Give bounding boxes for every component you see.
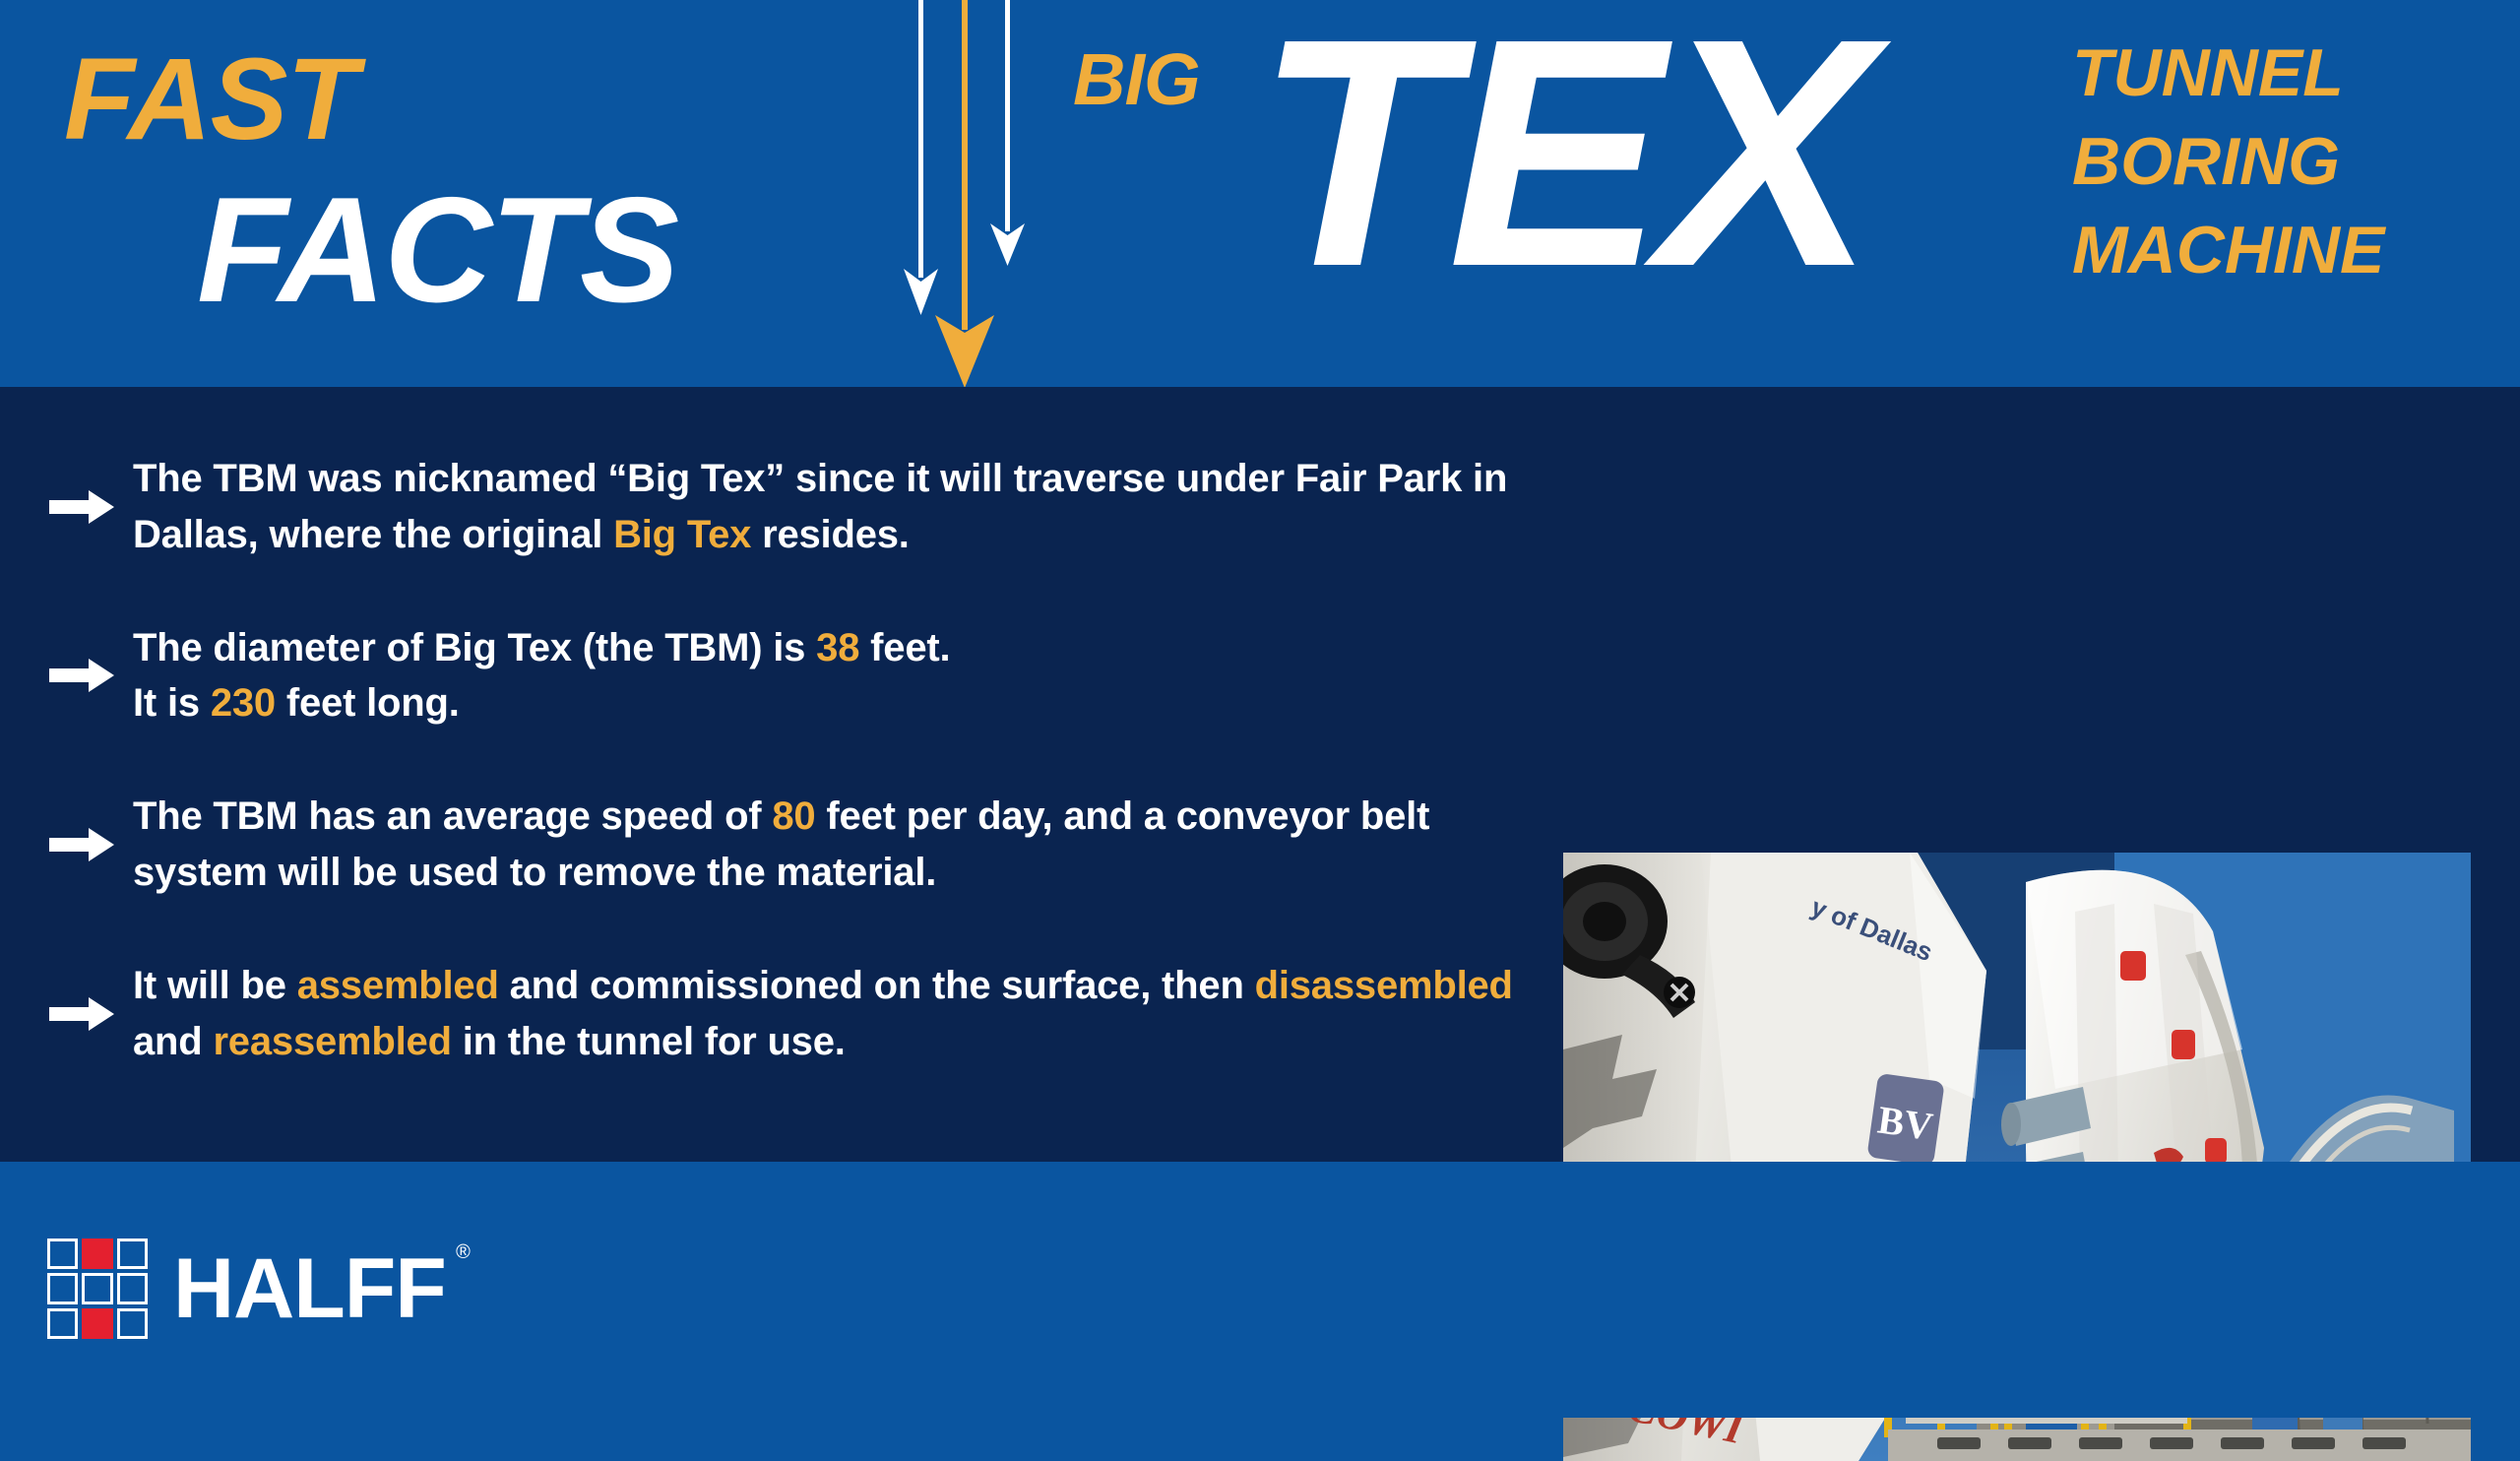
fact-plain: The TBM has an average speed of <box>133 794 772 838</box>
fact-plain: The diameter of Big Tex (the TBM) is <box>133 626 816 669</box>
halff-logo-grid-icon <box>47 1239 148 1339</box>
fact-plain: feet. <box>859 626 950 669</box>
fact-text: The TBM was nicknamed “Big Tex” since it… <box>133 451 1516 563</box>
fact-highlight: assembled <box>297 964 499 1007</box>
halff-logo-cell-2-1 <box>82 1308 112 1339</box>
header-banner: FAST FACTS BIG TEX TUNNEL BORING MACHI <box>0 0 2520 387</box>
tbm-subtitle-line-2: BORING <box>2072 118 2495 207</box>
halff-logo: HALFF® <box>47 1239 446 1339</box>
fact-text: It will be assembled and commissioned on… <box>133 958 1516 1070</box>
right-arrow-icon <box>39 822 133 867</box>
halff-logo-cell-1-2 <box>117 1273 148 1303</box>
tbm-subtitle-line-1: TUNNEL <box>2072 30 2495 118</box>
facts-panel: The TBM was nicknamed “Big Tex” since it… <box>0 387 2520 1162</box>
big-title-word: BIG <box>1073 43 1200 116</box>
facts-title-word: FACTS <box>197 175 677 325</box>
fact-item: It will be assembled and commissioned on… <box>39 958 1516 1070</box>
fact-text: The diameter of Big Tex (the TBM) is 38 … <box>133 620 1516 732</box>
halff-logo-cell-2-2 <box>117 1308 148 1339</box>
halff-logo-cell-1-0 <box>47 1273 78 1303</box>
fact-highlight: 230 <box>211 681 276 725</box>
halff-logo-text: HALFF <box>173 1241 446 1336</box>
fact-highlight: 80 <box>772 794 815 838</box>
fact-plain: in the tunnel for use. <box>452 1020 846 1063</box>
tex-title-word: TEX <box>1255 0 1869 315</box>
halff-logo-cell-0-1 <box>82 1239 112 1269</box>
fact-highlight: Big Tex <box>613 513 751 556</box>
fact-item: The diameter of Big Tex (the TBM) is 38 … <box>39 620 1516 732</box>
fact-text: The TBM has an average speed of 80 feet … <box>133 789 1516 901</box>
fact-highlight: reassembled <box>213 1020 451 1063</box>
registered-trademark-icon: ® <box>456 1242 470 1262</box>
fact-item: The TBM was nicknamed “Big Tex” since it… <box>39 451 1516 563</box>
fast-title-word: FAST <box>64 41 357 158</box>
footer-bar: HALFF® <box>0 1162 2520 1418</box>
fact-plain: resides. <box>751 513 910 556</box>
fact-item: The TBM has an average speed of 80 feet … <box>39 789 1516 901</box>
fact-plain: and <box>133 1020 213 1063</box>
halff-logo-wordmark: HALFF® <box>173 1246 446 1331</box>
down-arrow-right-white-icon <box>990 0 1025 266</box>
tbm-subtitle: TUNNEL BORING MACHINE <box>2072 30 2495 294</box>
fact-plain: It is <box>133 681 211 725</box>
halff-logo-cell-1-1 <box>82 1273 112 1303</box>
halff-logo-cell-0-0 <box>47 1239 78 1269</box>
tbm-subtitle-line-3: MACHINE <box>2072 207 2495 295</box>
down-arrow-center-orange-icon <box>935 0 994 387</box>
facts-list: The TBM was nicknamed “Big Tex” since it… <box>39 451 1516 1126</box>
fact-plain: feet long. <box>276 681 460 725</box>
fact-plain: and commissioned on the surface, then <box>499 964 1255 1007</box>
photo-label-bv: BV <box>1875 1097 1935 1148</box>
right-arrow-icon <box>39 991 133 1037</box>
down-arrows-group <box>891 0 1039 387</box>
down-arrow-left-white-icon <box>904 0 938 315</box>
halff-logo-cell-0-2 <box>117 1239 148 1269</box>
right-arrow-icon <box>39 484 133 530</box>
fact-highlight: disassembled <box>1255 964 1513 1007</box>
fast-facts-title: FAST FACTS <box>59 20 866 354</box>
halff-logo-cell-2-0 <box>47 1308 78 1339</box>
right-arrow-icon <box>39 653 133 698</box>
fact-highlight: 38 <box>816 626 859 669</box>
fact-plain: It will be <box>133 964 297 1007</box>
